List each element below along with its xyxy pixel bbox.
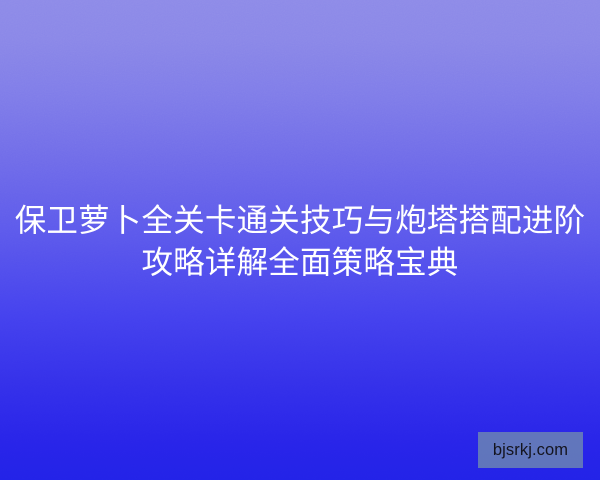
watermark-badge: bjsrkj.com [478, 432, 583, 468]
title-card: 保卫萝卜全关卡通关技巧与炮塔搭配进阶 攻略详解全面策略宝典 bjsrkj.com [0, 0, 600, 480]
title-line-2: 攻略详解全面策略宝典 [14, 241, 586, 283]
title-line-1: 保卫萝卜全关卡通关技巧与炮塔搭配进阶 [14, 199, 586, 241]
title-block: 保卫萝卜全关卡通关技巧与炮塔搭配进阶 攻略详解全面策略宝典 [0, 199, 600, 283]
watermark-label: bjsrkj.com [493, 442, 568, 459]
